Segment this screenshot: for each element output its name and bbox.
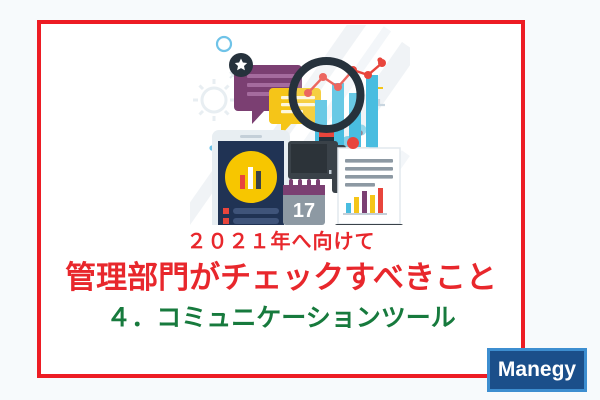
manegy-logo-text: Manegy <box>498 358 576 382</box>
tablet-device <box>212 130 290 225</box>
manegy-logo[interactable]: Manegy <box>487 348 587 392</box>
calendar-icon: 17 <box>283 179 325 225</box>
report-document <box>335 137 403 225</box>
star-badge-icon <box>229 53 253 77</box>
headline-kicker: ２０２１年へ向けて <box>41 228 521 256</box>
slide-canvas: 17 <box>0 0 600 400</box>
business-analytics-illustration: 17 <box>190 25 410 225</box>
headline-main: 管理部門がチェックすべきこと <box>41 258 521 298</box>
dark-device <box>288 141 340 179</box>
headline-block: ２０２１年へ向けて 管理部門がチェックすべきこと ４．コミュニケーションツール <box>41 228 521 336</box>
calendar-day-label: 17 <box>293 200 315 222</box>
headline-sub: ４．コミュニケーションツール <box>41 302 521 336</box>
gear-icon <box>193 79 235 121</box>
